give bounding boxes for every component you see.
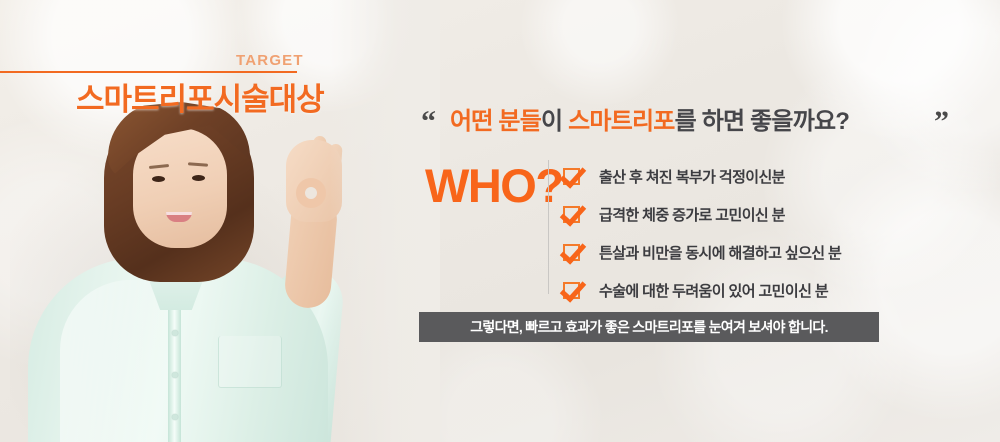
headline-highlight-1: 어떤 분들 — [450, 108, 541, 135]
headline-quote: “ 어떤 분들이 스마트리포를 하면 좋을까요? ” — [419, 101, 995, 141]
headline-plain-1: 이 — [541, 108, 568, 135]
check-icon — [563, 282, 580, 299]
list-item: 수술에 대한 두려움이 있어 고민이신 분 — [563, 277, 993, 311]
check-icon — [563, 206, 580, 223]
list-item-label: 튼살과 비만을 동시에 해결하고 싶으신 분 — [599, 242, 841, 263]
headline-text: 어떤 분들이 스마트리포를 하면 좋을까요? — [450, 101, 849, 136]
model-eye — [192, 175, 205, 181]
vertical-divider — [548, 160, 549, 294]
who-label: WHO? — [425, 158, 563, 213]
target-kicker: TARGET — [236, 52, 304, 69]
list-item-label: 출산 후 쳐진 복부가 걱정이신분 — [599, 166, 785, 187]
cta-bar: 그렇다면, 빠르고 효과가 좋은 스마트리포를 눈여겨 보셔야 합니다. — [419, 312, 879, 342]
promo-banner: TARGET 스마트리포시술대상 “ 어떤 분들이 스마트리포를 하면 좋을까요… — [0, 0, 1000, 442]
blouse-placket — [168, 300, 181, 442]
check-icon — [563, 244, 580, 261]
quote-close-icon: ” — [934, 105, 949, 139]
list-item-label: 급격한 체중 증가로 고민이신 분 — [599, 204, 785, 225]
content-panel: “ 어떤 분들이 스마트리포를 하면 좋을까요? ” WHO? 출산 후 쳐진 … — [415, 0, 1000, 442]
blouse-button — [172, 330, 178, 336]
list-item: 급격한 체중 증가로 고민이신 분 — [563, 201, 993, 235]
blouse-pocket — [218, 336, 282, 388]
ok-gesture-icon — [296, 178, 326, 208]
quote-open-icon: “ — [421, 105, 436, 139]
title-rule — [0, 71, 297, 73]
blouse-button — [172, 372, 178, 378]
blouse-button — [172, 414, 178, 420]
headline-highlight-2: 스마트리포 — [568, 108, 674, 135]
check-icon — [563, 168, 580, 185]
list-item-label: 수술에 대한 두려움이 있어 고민이신 분 — [599, 280, 828, 301]
model-eye — [152, 176, 165, 182]
headline-plain-2: 를 하면 좋을까요? — [675, 108, 850, 135]
cta-text: 그렇다면, 빠르고 효과가 좋은 스마트리포를 눈여겨 보셔야 합니다. — [470, 317, 828, 337]
list-item: 튼살과 비만을 동시에 해결하고 싶으신 분 — [563, 239, 993, 273]
model-photo — [0, 0, 430, 442]
target-checklist: 출산 후 쳐진 복부가 걱정이신분 급격한 체중 증가로 고민이신 분 튼살과 … — [563, 163, 993, 315]
page-title: 스마트리포시술대상 — [76, 74, 324, 119]
list-item: 출산 후 쳐진 복부가 걱정이신분 — [563, 163, 993, 197]
